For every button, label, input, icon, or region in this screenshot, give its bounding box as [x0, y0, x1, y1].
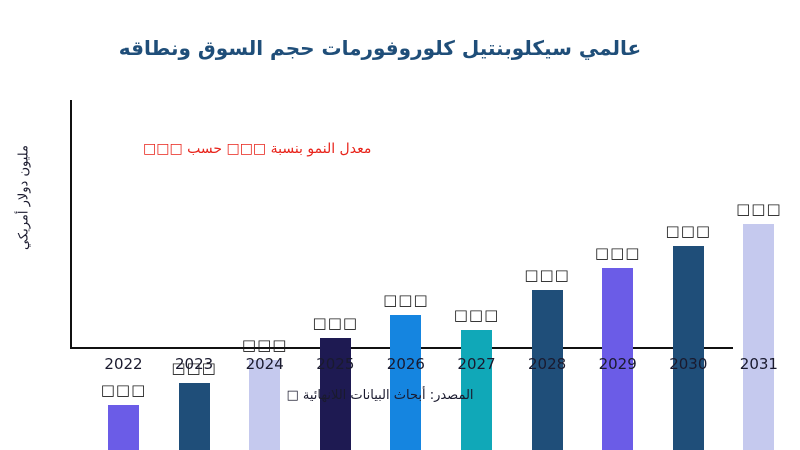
x-tick-label-2027: 2027	[443, 355, 510, 373]
x-tick-label-2028: 2028	[514, 355, 581, 373]
chart-title: عالمي سيكلوبنتيل كلوروفورمات حجم السوق و…	[0, 36, 760, 60]
bar-value-label: □□□	[242, 336, 288, 354]
bar-chart: عالمي سيكلوبنتيل كلوروفورمات حجم السوق و…	[0, 0, 800, 450]
x-tick-label-2029: 2029	[584, 355, 651, 373]
bar[interactable]	[108, 405, 139, 450]
x-tick-label-2030: 2030	[655, 355, 722, 373]
bar[interactable]	[673, 246, 704, 450]
bar-value-label: □□□	[595, 244, 641, 262]
bar-value-label: □□□	[524, 266, 570, 284]
bar[interactable]	[743, 224, 774, 450]
bar[interactable]	[249, 360, 280, 450]
source-note: المصدر: أبحاث البيانات اللانهائية □	[0, 388, 760, 403]
bar-value-label: □□□	[313, 314, 359, 332]
x-tick-label-2025: 2025	[302, 355, 369, 373]
y-axis-label: مليون دولار أمريكي	[17, 88, 32, 308]
x-tick-label-2026: 2026	[372, 355, 439, 373]
bar-value-label: □□□	[736, 200, 782, 218]
bar-value-label: □□□	[383, 291, 429, 309]
y-axis-line	[70, 100, 72, 349]
bar-value-label: □□□	[454, 306, 500, 324]
x-tick-label-2031: 2031	[725, 355, 792, 373]
x-tick-label-2022: 2022	[90, 355, 157, 373]
bar-value-label: □□□	[666, 222, 712, 240]
x-tick-label-2024: 2024	[231, 355, 298, 373]
bar[interactable]	[390, 315, 421, 450]
x-tick-label-2023: 2023	[161, 355, 228, 373]
